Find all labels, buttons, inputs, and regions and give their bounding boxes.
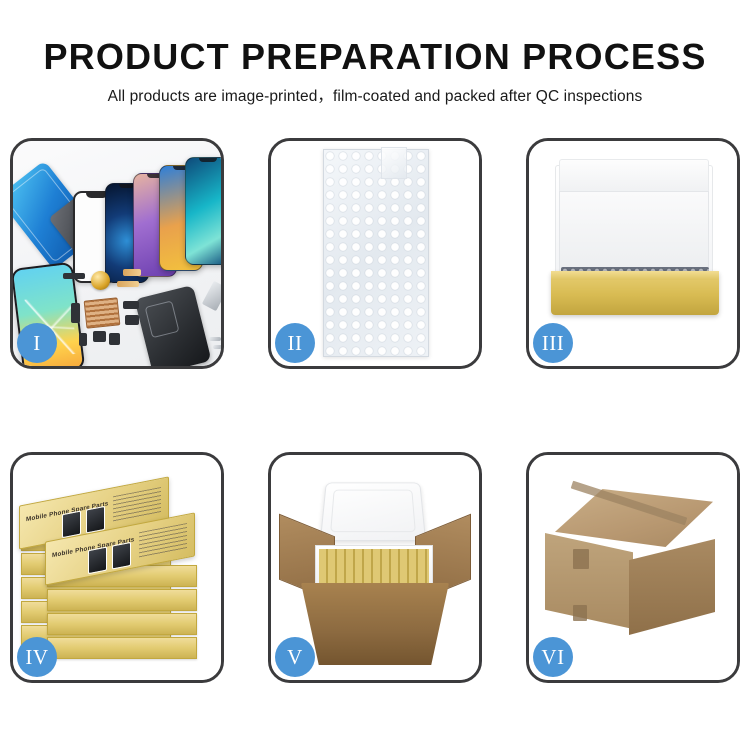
infographic-page: PRODUCT PREPARATION PROCESS All products… (0, 0, 750, 750)
screw-icon (213, 345, 221, 349)
process-step-2: II (268, 138, 482, 369)
small-part-icon (125, 315, 139, 325)
process-step-4: Mobile Phone Spare Parts Mobile Phone Sp… (10, 452, 224, 683)
carton-body-icon (301, 583, 449, 665)
small-part-icon (123, 301, 139, 309)
carton-tab-icon (573, 549, 589, 569)
foam-lid-icon (559, 159, 709, 193)
step-badge-4: IV (17, 637, 57, 677)
process-step-3: III (526, 138, 740, 369)
step-badge-1: I (17, 323, 57, 363)
flex-cable-icon (123, 269, 141, 276)
product-photo-icon (112, 542, 131, 570)
carton-side-face-icon (629, 539, 715, 635)
step-badge-3: III (533, 323, 573, 363)
copper-coil-icon (91, 271, 110, 290)
screw-icon (209, 337, 221, 341)
process-step-1: I (10, 138, 224, 369)
small-part-icon (71, 303, 80, 323)
page-subtitle: All products are image-printed，film-coat… (0, 84, 750, 106)
product-photo-icon (88, 547, 107, 575)
bag-seal-icon (381, 147, 407, 179)
bubble-wrap-bag-icon (323, 149, 429, 357)
process-step-grid: I II III (0, 138, 750, 683)
packed-yellow-boxes-icon (319, 549, 429, 587)
small-part-icon (79, 333, 87, 346)
foam-sheet-icon (559, 191, 709, 275)
flex-cable-icon (117, 281, 139, 287)
step-badge-2: II (275, 323, 315, 363)
step-badge-6: VI (533, 637, 573, 677)
process-step-6: VI (526, 452, 740, 683)
phone-display-4-icon (185, 157, 221, 265)
spec-lines-icon (139, 523, 187, 558)
process-step-5: V (268, 452, 482, 683)
phone-back-housing-icon (134, 285, 211, 366)
carton-front-face-icon (545, 533, 633, 629)
yellow-tray-box-icon (551, 271, 719, 315)
tweezers-icon (202, 281, 221, 311)
spec-lines-icon (113, 487, 161, 522)
small-part-icon (109, 333, 120, 345)
carton-tab-icon (573, 605, 587, 621)
screw-grid-icon (84, 297, 121, 328)
stacked-box-icon (47, 613, 197, 635)
step-badge-5: V (275, 637, 315, 677)
small-part-icon (93, 331, 106, 342)
small-part-icon (63, 273, 85, 279)
foam-box-lid-icon (320, 483, 426, 541)
page-title: PRODUCT PREPARATION PROCESS (0, 36, 750, 78)
stacked-box-icon (47, 637, 197, 659)
stacked-box-icon (47, 589, 197, 611)
header: PRODUCT PREPARATION PROCESS All products… (0, 0, 750, 120)
carton-top-face-icon (555, 489, 713, 547)
